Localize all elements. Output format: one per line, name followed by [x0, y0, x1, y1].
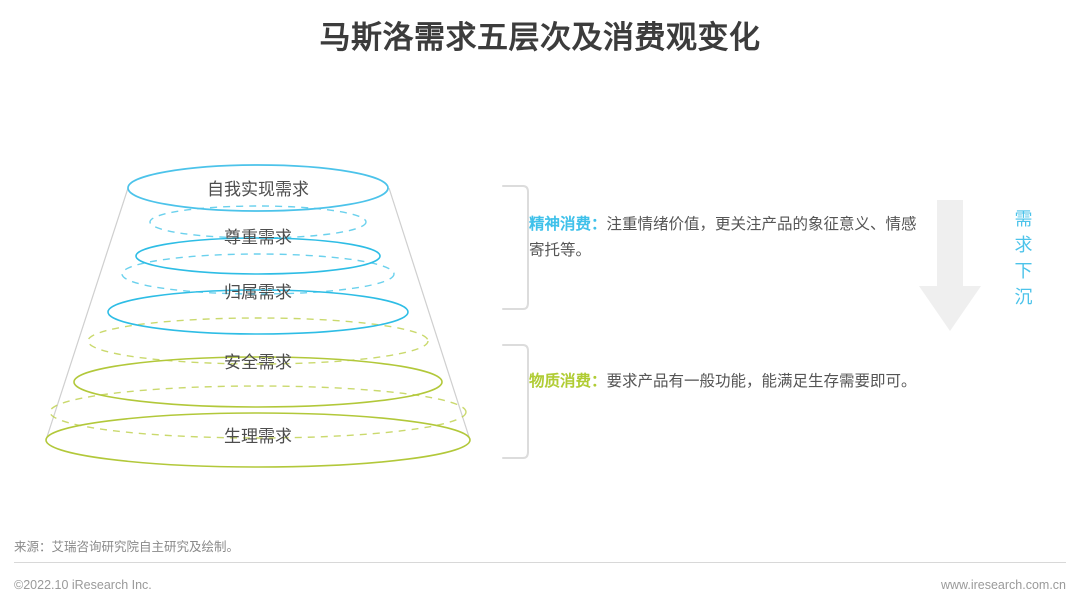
note-spiritual-key: 精神消费：	[529, 216, 607, 233]
maslow-pyramid-diagram	[0, 0, 1080, 601]
pyramid-right-edge	[389, 188, 470, 440]
copyright-text: ©2022.10 iResearch Inc.	[14, 576, 152, 594]
note-spiritual-consumption: 精神消费：注重情绪价值，更关注产品的象征意义、情感寄托等。	[529, 212, 929, 264]
note-material-consumption: 物质消费：要求产品有一般功能，能满足生存需要即可。	[529, 369, 929, 395]
website-url: www.iresearch.com.cn	[941, 576, 1066, 594]
note-material-text: 要求产品有一般功能，能满足生存需要即可。	[607, 373, 917, 390]
pyramid-left-edge	[46, 188, 128, 440]
vertical-caption-char-3: 下	[1007, 258, 1041, 284]
level-label-esteem: 尊重需求	[168, 228, 348, 248]
level-label-safety: 安全需求	[168, 353, 348, 373]
vertical-caption-char-4: 沉	[1007, 284, 1041, 310]
vertical-caption-demand-sinking: 需 求 下 沉	[1007, 206, 1041, 310]
level-label-physiological: 生理需求	[168, 427, 348, 447]
bracket-material	[503, 345, 528, 458]
note-material-key: 物质消费：	[529, 373, 607, 390]
level-label-self-actualization: 自我实现需求	[168, 180, 348, 200]
bracket-spiritual	[503, 186, 528, 309]
level-label-belonging: 归属需求	[168, 283, 348, 303]
vertical-caption-char-2: 求	[1007, 232, 1041, 258]
footer-divider	[14, 562, 1066, 563]
vertical-caption-char-1: 需	[1007, 206, 1041, 232]
source-note: 来源：艾瑞咨询研究院自主研究及绘制。	[14, 538, 239, 556]
